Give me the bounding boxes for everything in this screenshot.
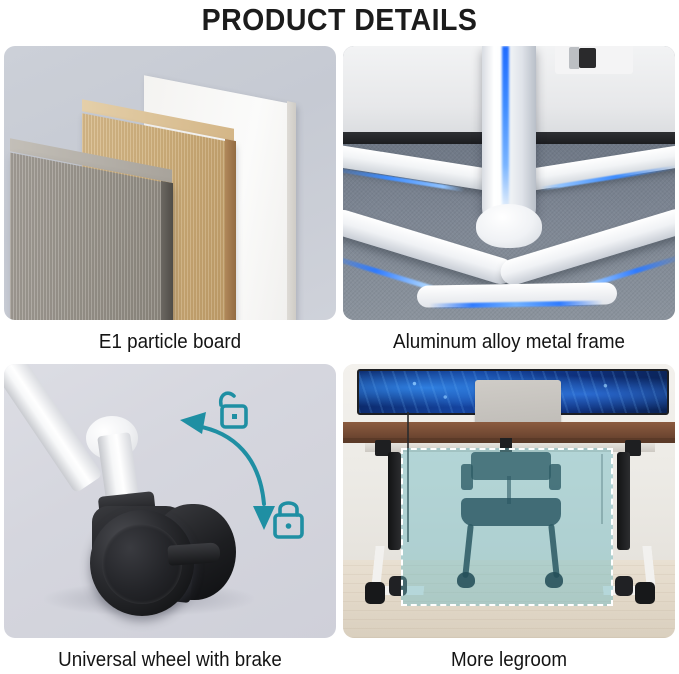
monitor-slot (579, 48, 596, 68)
caption-universal-wheel: Universal wheel with brake (14, 646, 326, 674)
caption-metal-frame: Aluminum alloy metal frame (353, 328, 665, 356)
chair-backrest (471, 452, 551, 480)
lock-open-icon (210, 388, 252, 432)
more-legroom-image (343, 364, 675, 638)
desk-leg-right (617, 452, 630, 550)
caption-more-legroom: More legroom (353, 646, 665, 674)
chair-leg-right (548, 524, 560, 578)
chair-caster-right (545, 572, 563, 588)
caption-particle-board: E1 particle board (14, 328, 326, 356)
office-chair (447, 452, 573, 592)
feature-grid: E1 particle board (4, 46, 675, 666)
page-title: PRODUCT DETAILS (27, 2, 652, 38)
particle-board-image (4, 46, 336, 320)
feature-card-more-legroom: More legroom (343, 364, 675, 674)
board-gray-edge (161, 181, 173, 320)
desk-top (343, 422, 675, 438)
chair-caster-left (457, 572, 475, 588)
frame-column (482, 46, 536, 228)
product-details-page: PRODUCT DETAILS E1 particle board (0, 0, 679, 673)
desk-caster-right-inner (615, 576, 633, 596)
board-oak-edge (225, 139, 236, 320)
feature-card-particle-board: E1 particle board (4, 46, 336, 356)
desk-caster-left-outer (365, 582, 385, 604)
frame-column-hub (476, 204, 542, 248)
laptop-screen (475, 380, 561, 428)
chair-arm-left (461, 464, 473, 490)
chair-seat (461, 498, 561, 526)
monitor-slot-side (569, 47, 579, 69)
chair-leg-left (462, 524, 474, 578)
feature-card-metal-frame: Aluminum alloy metal frame (343, 46, 675, 356)
frame-column-glow (502, 46, 509, 216)
universal-wheel-image (4, 364, 336, 638)
board-white-edge (287, 101, 296, 320)
lock-closed-icon (268, 496, 310, 542)
metal-frame-image (343, 46, 675, 320)
brake-lever (167, 542, 220, 566)
desk-caster-right-outer (635, 582, 655, 604)
chair-arm-right (549, 464, 561, 490)
desk-leg-left (388, 452, 401, 550)
feature-card-universal-wheel: Universal wheel with brake (4, 364, 336, 674)
